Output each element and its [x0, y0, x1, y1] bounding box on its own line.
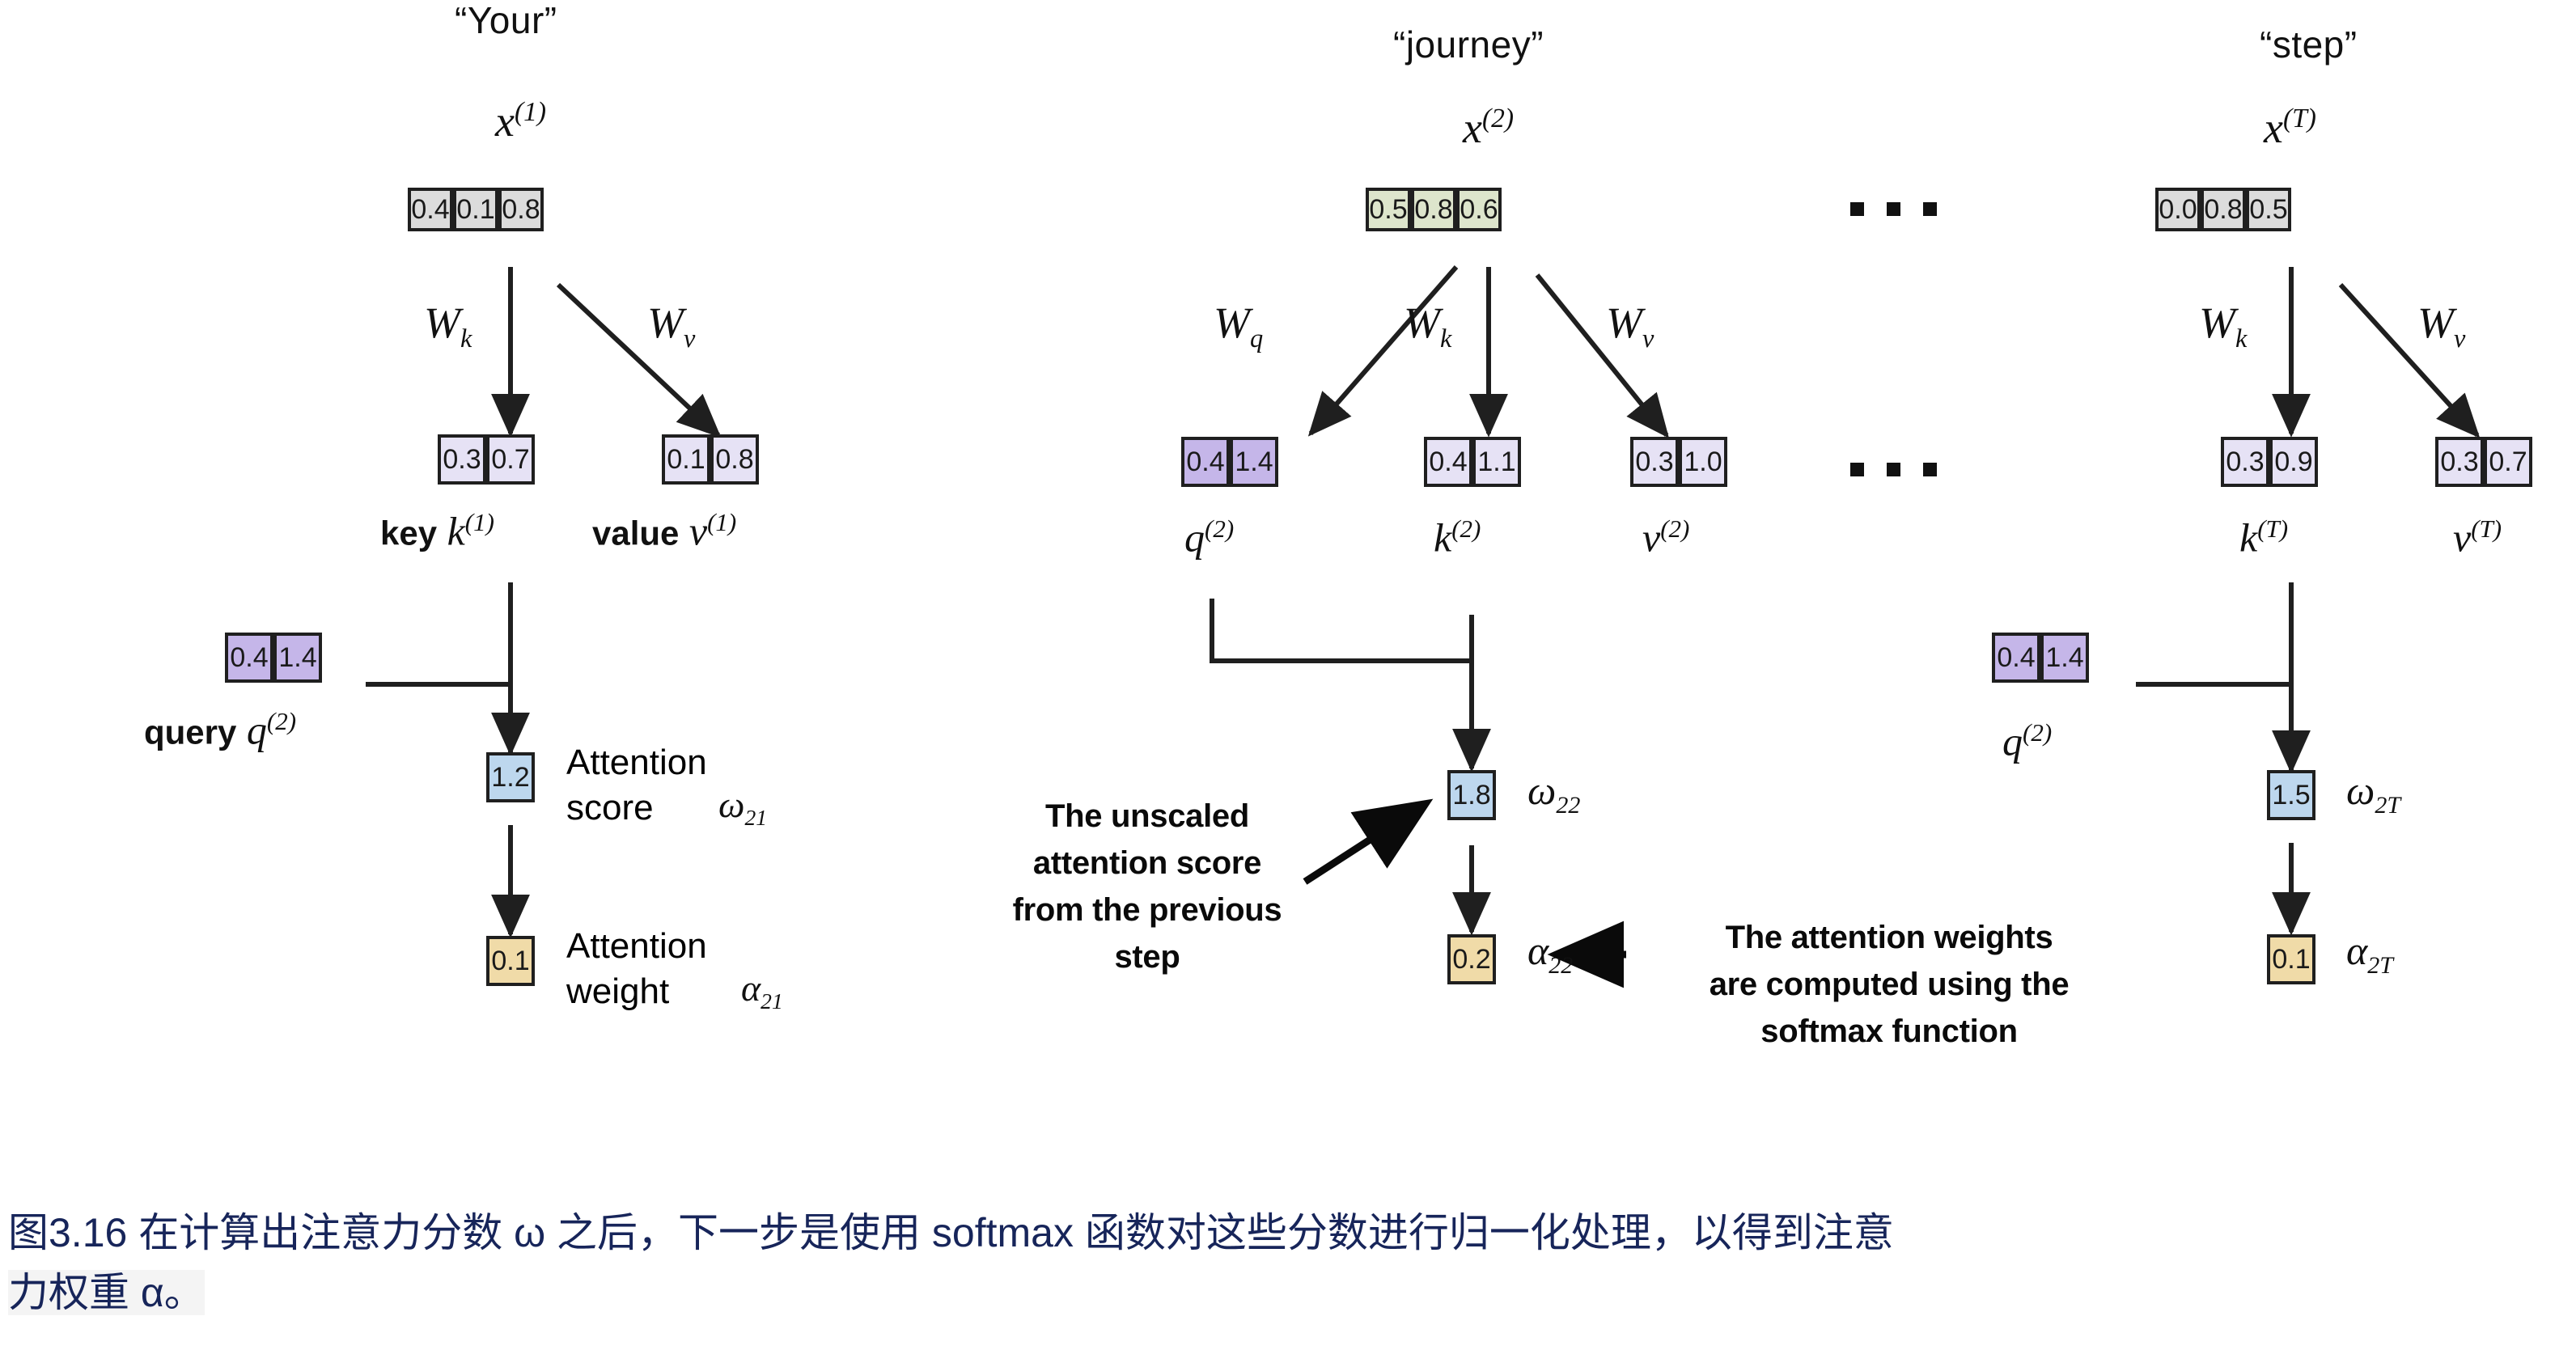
query-label-q2-col1: query q(2)	[144, 709, 296, 751]
key-vector-k2: 0.4 1.1	[1424, 437, 1521, 487]
vector-cell: 0.8	[710, 434, 759, 485]
weight-matrix-wk-label: Wk	[424, 301, 472, 352]
token-word-your: “Your”	[455, 0, 557, 42]
key-label-kT: k(T)	[2239, 516, 2288, 558]
vector-cell: 0.3	[2221, 437, 2269, 487]
vector-cell: 0.4	[1992, 633, 2040, 683]
key-vector-kT: 0.3 0.9	[2221, 437, 2318, 487]
vector-cell: 0.1	[662, 434, 710, 485]
ellipsis-middle	[1850, 463, 1937, 476]
weight-cell: 0.1	[486, 936, 535, 986]
input-label-x2: x(2)	[1463, 105, 1514, 150]
token-word-step: “step”	[2260, 23, 2358, 66]
query-vector-q2-col1: 0.4 1.4	[225, 633, 322, 683]
value-label-vT: v(T)	[2453, 516, 2502, 558]
vector-cell: 0.4	[225, 633, 273, 683]
vector-cell: 0.3	[2435, 437, 2484, 487]
value-label-v1: value v(1)	[592, 510, 736, 552]
key-prefix: key	[380, 514, 437, 552]
query-vector-q2: 0.4 1.4	[1181, 437, 1278, 487]
vector-cell: 0.8	[2201, 188, 2246, 231]
vector-cell: 0.9	[2269, 437, 2318, 487]
vector-cell: 0.5	[2246, 188, 2291, 231]
attention-score-box-w2T: 1.5	[2267, 770, 2315, 820]
weight-matrix-wv-label-2: Wv	[1606, 301, 1654, 352]
caption-line-1: 图3.16 在计算出注意力分数 ω 之后，下一步是使用 softmax 函数对这…	[8, 1203, 2548, 1263]
ellipsis-top	[1850, 202, 1937, 216]
attention-score-box-w21: 1.2	[486, 752, 535, 802]
weight-symbol-2T: α2T	[2346, 930, 2393, 978]
vector-cell: 1.4	[273, 633, 322, 683]
caption-line-2: 力权重 α。	[8, 1270, 205, 1315]
vector-cell: 1.4	[2040, 633, 2089, 683]
weight-cell: 0.1	[2267, 934, 2315, 984]
vector-cell: 0.3	[1630, 437, 1679, 487]
annotation-unscaled-score: The unscaled attention score from the pr…	[961, 793, 1333, 980]
attention-weight-box-a21: 0.1	[486, 936, 535, 986]
score-cell: 1.5	[2267, 770, 2315, 820]
attention-diagram: “Your” x(1) 0.4 0.1 0.8 Wk Wv 0.3 0.7 ke…	[0, 0, 2576, 1367]
query-vector-q2-col3: 0.4 1.4	[1992, 633, 2089, 683]
score-symbol-2T: ω2T	[2346, 770, 2400, 818]
query-prefix: query	[144, 713, 236, 751]
vector-cell: 0.8	[498, 188, 544, 231]
attention-weight-box-a2T: 0.1	[2267, 934, 2315, 984]
vector-cell: 0.6	[1456, 188, 1502, 231]
vector-cell: 0.0	[2155, 188, 2201, 231]
value-vector-v1: 0.1 0.8	[662, 434, 759, 485]
annotation-softmax-weights: The attention weights are computed using…	[1650, 914, 2128, 1055]
vector-cell: 0.4	[1181, 437, 1230, 487]
value-vector-v2: 0.3 1.0	[1630, 437, 1727, 487]
key-label-k1: key k(1)	[380, 510, 494, 552]
vector-cell: 0.7	[2484, 437, 2532, 487]
input-vector-x1: 0.4 0.1 0.8	[408, 188, 544, 231]
vector-cell: 0.4	[1424, 437, 1472, 487]
weight-cell: 0.2	[1447, 934, 1496, 984]
score-symbol-21: ω21	[718, 786, 767, 829]
token-word-journey: “journey”	[1393, 23, 1544, 66]
key-label-k2: k(2)	[1434, 516, 1481, 558]
vector-cell: 1.0	[1679, 437, 1727, 487]
weight-matrix-wq-label: Wq	[1214, 301, 1263, 352]
weight-matrix-wk-label-2: Wk	[1404, 301, 1451, 352]
vector-cell: 0.3	[438, 434, 486, 485]
query-label-q2: q(2)	[1184, 516, 1234, 558]
weight-matrix-wk-label-3: Wk	[2199, 301, 2247, 352]
score-caption-text: Attention score	[566, 740, 707, 832]
attention-weight-box-a22: 0.2	[1447, 934, 1496, 984]
vector-cell: 0.8	[1411, 188, 1456, 231]
weight-symbol-22: α22	[1527, 930, 1573, 978]
query-label-q2-col3: q(2)	[2002, 720, 2052, 762]
vector-cell: 0.4	[408, 188, 453, 231]
weight-matrix-wv-label: Wv	[647, 301, 695, 352]
weight-caption-text: Attention weight	[566, 924, 707, 1015]
value-label-v2: v(2)	[1642, 516, 1689, 558]
vector-cell: 0.7	[486, 434, 535, 485]
input-vector-xT: 0.0 0.8 0.5	[2155, 188, 2291, 231]
figure-caption: 图3.16 在计算出注意力分数 ω 之后，下一步是使用 softmax 函数对这…	[8, 1203, 2548, 1323]
vector-cell: 1.1	[1472, 437, 1521, 487]
attention-score-caption-21: Attention score ω21	[566, 740, 707, 832]
input-label-xT: x(T)	[2264, 105, 2316, 150]
weight-symbol-21: α21	[741, 970, 783, 1013]
score-cell: 1.8	[1447, 770, 1496, 820]
input-label-x1: x(1)	[495, 99, 546, 143]
score-symbol-22: ω22	[1527, 770, 1580, 818]
key-vector-k1: 0.3 0.7	[438, 434, 535, 485]
value-vector-vT: 0.3 0.7	[2435, 437, 2532, 487]
score-cell: 1.2	[486, 752, 535, 802]
value-prefix: value	[592, 514, 679, 552]
attention-score-box-w22: 1.8	[1447, 770, 1496, 820]
vector-cell: 1.4	[1230, 437, 1278, 487]
weight-matrix-wv-label-3: Wv	[2417, 301, 2465, 352]
vector-cell: 0.1	[453, 188, 498, 231]
vector-cell: 0.5	[1366, 188, 1411, 231]
input-vector-x2: 0.5 0.8 0.6	[1366, 188, 1502, 231]
